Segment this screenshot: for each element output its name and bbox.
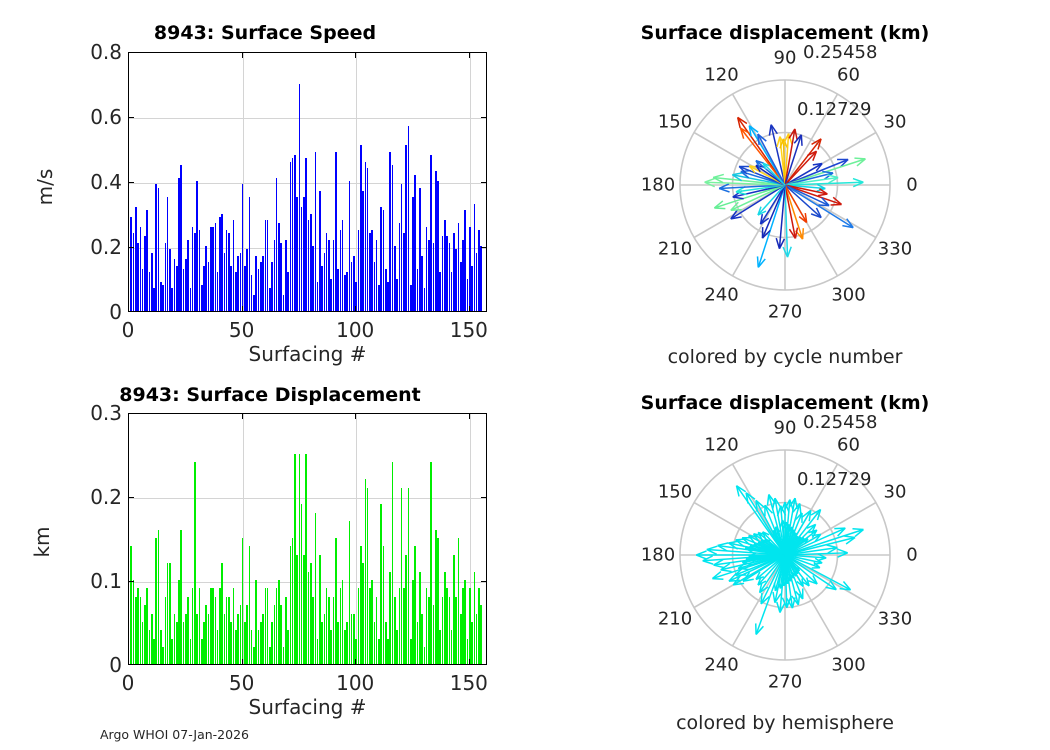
displacement-x-axis-label: Surfacing # <box>128 695 487 719</box>
grid-line-horizontal <box>129 183 486 184</box>
x-axis-tick-mark <box>242 659 243 665</box>
polar-angle-label-0: 0 <box>906 545 917 566</box>
x-axis-tick-mark <box>355 52 356 58</box>
y-axis-tick-mark <box>481 117 487 118</box>
polar-hemisphere-caption: colored by hemisphere <box>560 712 1010 734</box>
polar-angle-label-300: 300 <box>831 654 865 675</box>
y-axis-tick-mark <box>481 247 487 248</box>
polar-angle-label-240: 240 <box>704 284 738 305</box>
polar-grid-and-vectors <box>655 55 915 315</box>
x-axis-tick-label: 150 <box>450 671 488 695</box>
polar-angle-label-210: 210 <box>658 238 692 259</box>
y-axis-tick-label: 0.2 <box>60 235 122 259</box>
x-axis-tick-label: 0 <box>122 671 135 695</box>
panel-surface-displacement: 8943: Surface Displacement km 00.10.20.3… <box>0 375 520 750</box>
polar-angle-label-270: 270 <box>768 672 802 693</box>
y-axis-tick-mark <box>128 247 134 248</box>
polar-angle-label-300: 300 <box>831 284 865 305</box>
y-axis-tick-label: 0.2 <box>60 485 122 509</box>
polar-angle-label-180: 180 <box>641 175 675 196</box>
x-axis-tick-label: 100 <box>336 318 374 342</box>
polar-angle-label-180: 180 <box>641 545 675 566</box>
panel-polar-cycle-number: Surface displacement (km) 03060901201501… <box>520 0 1050 375</box>
x-axis-tick-label: 0 <box>122 318 135 342</box>
grid-line-horizontal <box>129 118 486 119</box>
polar-angle-label-330: 330 <box>878 238 912 259</box>
displacement-y-axis-label: km <box>30 492 54 592</box>
figure-footer: Argo WHOI 07-Jan-2026 <box>100 727 249 742</box>
y-axis-tick-mark <box>128 581 134 582</box>
x-axis-tick-mark <box>355 413 356 419</box>
x-axis-tick-mark <box>242 306 243 312</box>
x-axis-tick-label: 150 <box>450 318 488 342</box>
x-axis-tick-mark <box>242 413 243 419</box>
x-axis-tick-mark <box>469 306 470 312</box>
x-axis-tick-label: 50 <box>229 318 254 342</box>
displacement-vector <box>785 185 853 228</box>
y-axis-tick-mark <box>481 497 487 498</box>
y-axis-tick-label: 0.8 <box>60 40 122 64</box>
y-axis-tick-label: 0.6 <box>60 105 122 129</box>
polar-cycle-title: Surface displacement (km) <box>580 22 990 44</box>
polar-grid-and-vectors <box>655 425 915 685</box>
bar <box>408 126 410 311</box>
x-axis-tick-mark <box>469 52 470 58</box>
polar-angle-label-60: 60 <box>837 435 860 456</box>
polar-angle-label-150: 150 <box>658 481 692 502</box>
polar-cycle-caption: colored by cycle number <box>560 346 1010 368</box>
y-axis-tick-label: 0.1 <box>60 569 122 593</box>
displacement-plot-area <box>128 413 487 665</box>
bar <box>480 605 482 664</box>
speed-y-axis-label: m/s <box>33 137 57 237</box>
polar-cycle-plot-area: 03060901201501802102402703003300.254580.… <box>655 55 915 315</box>
polar-radius-label-outer: 0.25458 <box>803 412 877 433</box>
y-axis-tick-mark <box>128 117 134 118</box>
displacement-bars-group <box>129 414 486 664</box>
x-axis-tick-mark <box>242 52 243 58</box>
polar-angle-label-120: 120 <box>704 65 738 86</box>
polar-hemisphere-title: Surface displacement (km) <box>580 392 990 414</box>
y-axis-tick-mark <box>128 182 134 183</box>
polar-radius-label-outer: 0.25458 <box>803 42 877 63</box>
grid-line-horizontal <box>129 498 486 499</box>
y-axis-tick-mark <box>128 497 134 498</box>
polar-angle-label-90: 90 <box>774 48 797 69</box>
polar-angle-label-270: 270 <box>768 302 802 323</box>
speed-bars-group <box>129 53 486 311</box>
polar-angle-label-30: 30 <box>884 111 907 132</box>
x-axis-tick-mark <box>355 659 356 665</box>
bar <box>480 246 482 311</box>
polar-angle-label-240: 240 <box>704 654 738 675</box>
y-axis-tick-label: 0.4 <box>60 170 122 194</box>
polar-angle-label-0: 0 <box>906 175 917 196</box>
polar-angle-label-30: 30 <box>884 481 907 502</box>
y-axis-tick-label: 0 <box>60 300 122 324</box>
polar-angle-label-120: 120 <box>704 435 738 456</box>
polar-angle-label-210: 210 <box>658 608 692 629</box>
y-axis-tick-label: 0.3 <box>60 401 122 425</box>
x-axis-tick-label: 50 <box>229 671 254 695</box>
panel-polar-hemisphere: Surface displacement (km) 03060901201501… <box>520 375 1050 750</box>
polar-radius-label-inner: 0.12729 <box>797 469 871 490</box>
bar <box>408 488 410 664</box>
polar-hemisphere-plot-area: 03060901201501802102402703003300.254580.… <box>655 425 915 685</box>
speed-plot-area <box>128 52 487 312</box>
polar-radius-label-inner: 0.12729 <box>797 99 871 120</box>
polar-angle-label-60: 60 <box>837 65 860 86</box>
y-axis-tick-label: 0 <box>60 653 122 677</box>
y-axis-tick-mark <box>481 581 487 582</box>
polar-angle-label-330: 330 <box>878 608 912 629</box>
polar-angle-label-150: 150 <box>658 111 692 132</box>
x-axis-tick-mark <box>355 306 356 312</box>
speed-x-axis-label: Surfacing # <box>128 342 487 366</box>
x-axis-tick-label: 100 <box>336 671 374 695</box>
polar-angle-label-90: 90 <box>774 418 797 439</box>
x-axis-tick-mark <box>469 659 470 665</box>
x-axis-tick-mark <box>469 413 470 419</box>
y-axis-tick-mark <box>481 182 487 183</box>
panel-surface-speed: 8943: Surface Speed m/s 00.20.40.60.8050… <box>0 0 520 375</box>
